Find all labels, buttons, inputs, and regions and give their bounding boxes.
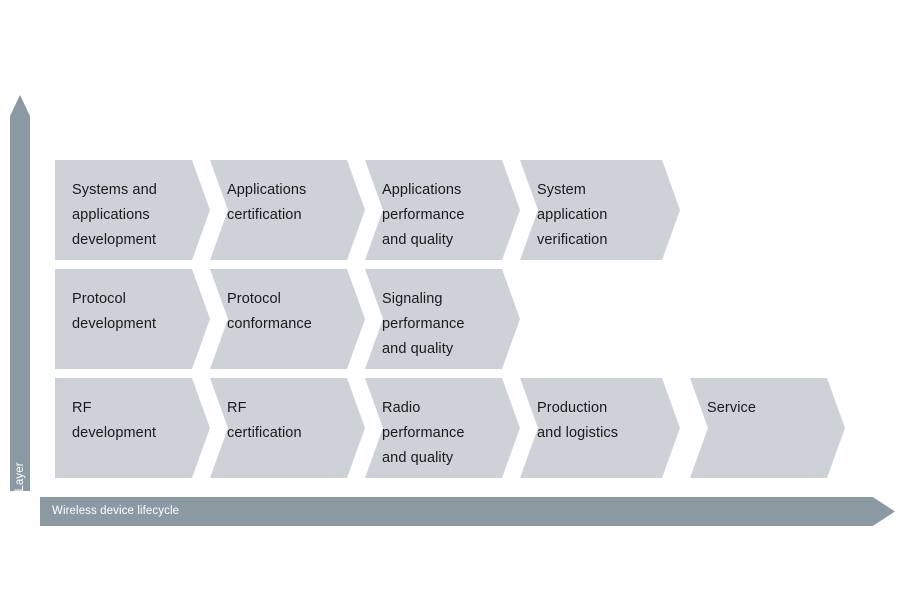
horizontal-axis-arrow-icon: Wireless device lifecycle: [40, 497, 895, 526]
chevron-production-and-logistics[interactable]: Production and logistics: [520, 378, 680, 478]
chevron-rf-development[interactable]: RF development: [55, 378, 210, 478]
lifecycle-layer-diagram: Layer Systems and applications developme…: [0, 0, 900, 600]
chevron-label: Protocol development: [72, 287, 210, 337]
chevron-label: Service: [707, 396, 845, 421]
chevron-applications-performance-and-quality[interactable]: Applications performance and quality: [365, 160, 520, 260]
chevron-label: Signaling performance and quality: [382, 287, 520, 362]
chevron-label: Systems and applications development: [72, 178, 210, 253]
chevron-applications-certification[interactable]: Applications certification: [210, 160, 365, 260]
chevron-label: System application verification: [537, 178, 680, 253]
chevron-label: Protocol conformance: [227, 287, 365, 337]
chevron-signaling-performance-and-quality[interactable]: Signaling performance and quality: [365, 269, 520, 369]
chevron-label: Applications certification: [227, 178, 365, 228]
chevron-radio-performance-and-quality[interactable]: Radio performance and quality: [365, 378, 520, 478]
chevron-rf-certification[interactable]: RF certification: [210, 378, 365, 478]
chevron-label: RF development: [72, 396, 210, 446]
chevron-system-application-verification[interactable]: System application verification: [520, 160, 680, 260]
chevron-protocol-conformance[interactable]: Protocol conformance: [210, 269, 365, 369]
layer-row-applications: Systems and applications development App…: [0, 160, 900, 260]
horizontal-axis-label: Wireless device lifecycle: [52, 497, 179, 526]
chevron-label: RF certification: [227, 396, 365, 446]
layer-row-rf: RF development RF certification Radio pe…: [0, 378, 900, 478]
chevron-protocol-development[interactable]: Protocol development: [55, 269, 210, 369]
chevron-label: Radio performance and quality: [382, 396, 520, 471]
chevron-service[interactable]: Service: [690, 378, 845, 478]
chevron-systems-and-applications-development[interactable]: Systems and applications development: [55, 160, 210, 260]
chevron-label: Applications performance and quality: [382, 178, 520, 253]
chevron-label: Production and logistics: [537, 396, 680, 446]
layer-row-protocol: Protocol development Protocol conformanc…: [0, 269, 900, 369]
